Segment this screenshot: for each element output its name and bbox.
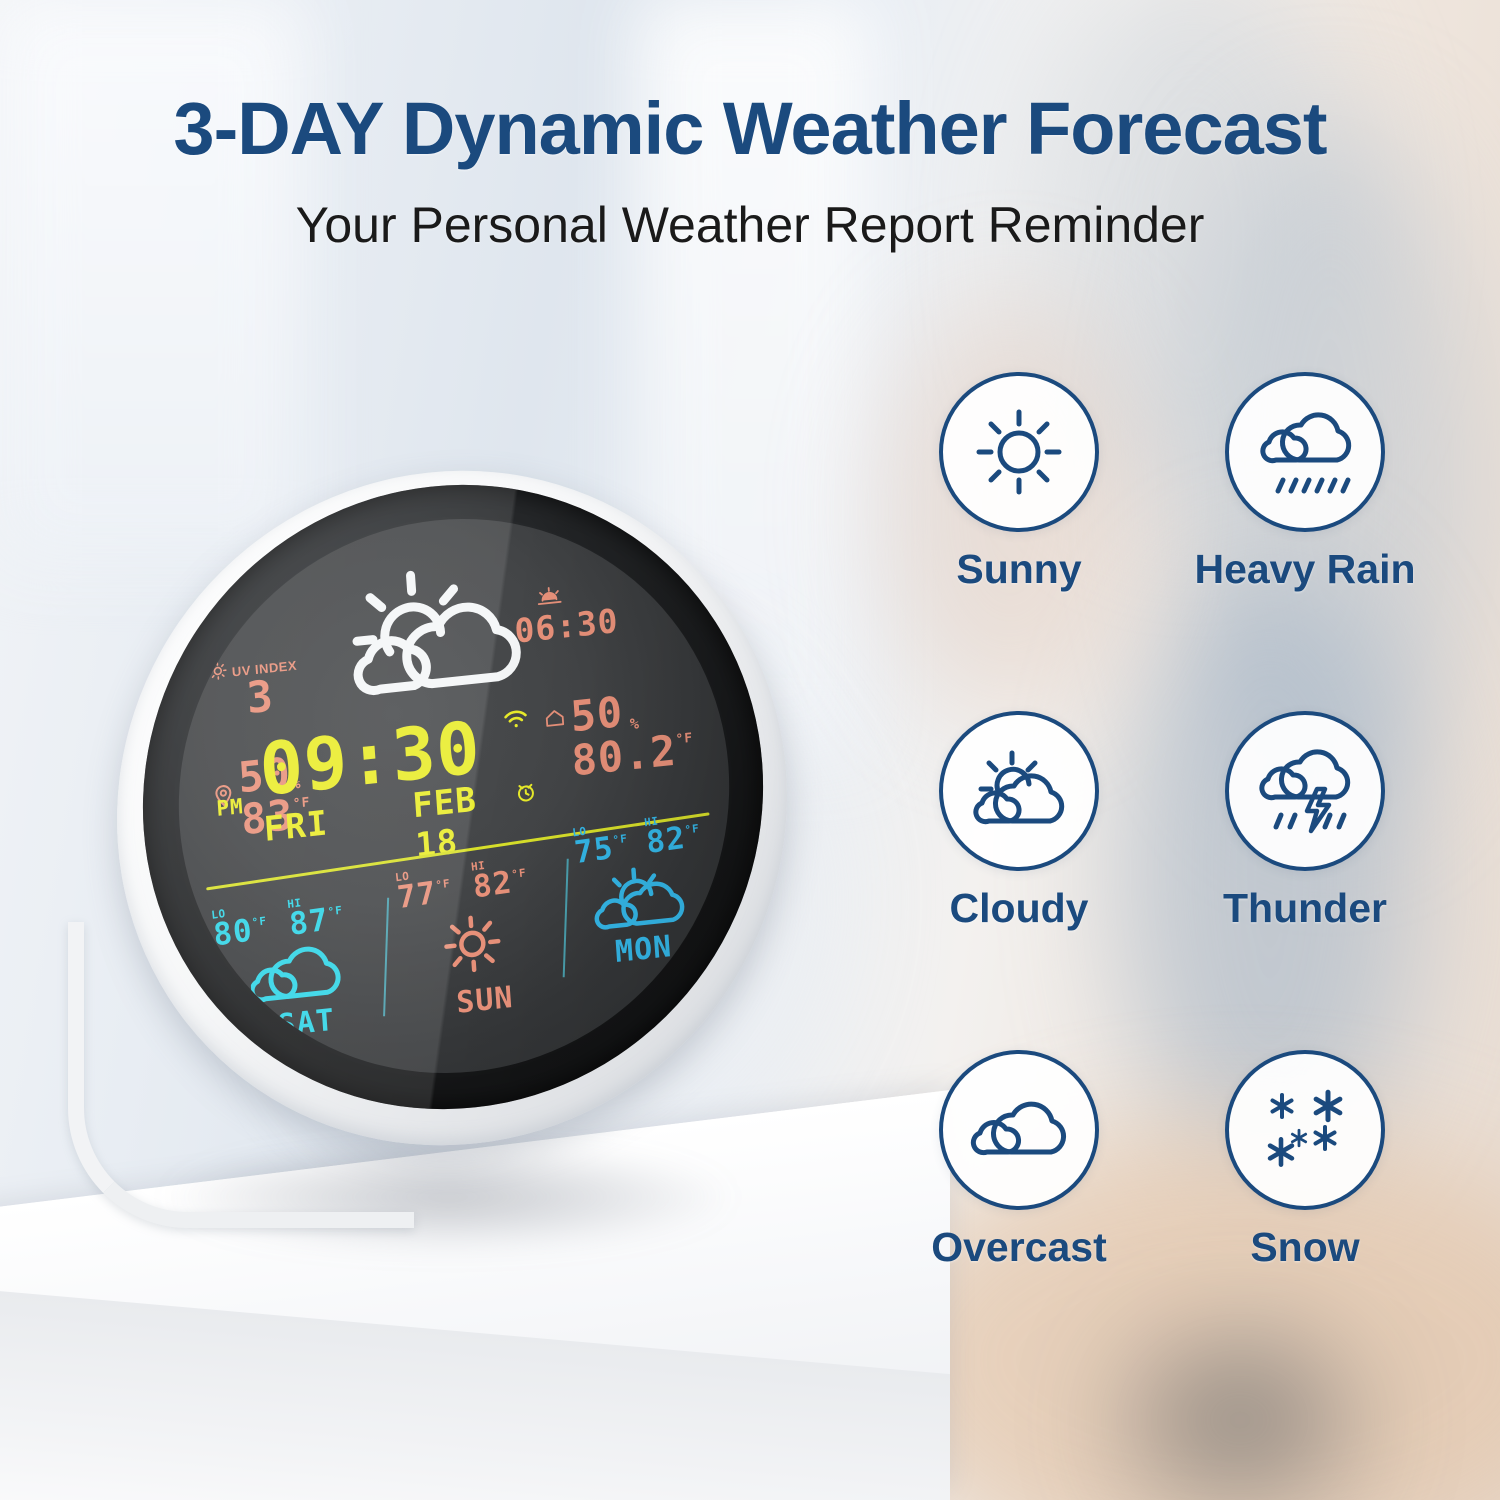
overcast-badge <box>939 1050 1099 1210</box>
background-shoe-blur <box>1130 1340 1350 1500</box>
mon-hi-unit: °F <box>684 822 700 837</box>
weather-icon-legend: Sunny <box>915 372 1490 1331</box>
overcast-icon <box>966 1080 1072 1180</box>
heavy-rain-badge <box>1225 372 1385 532</box>
alarm-time-block: 06:30 <box>512 580 620 648</box>
sat-hi-unit: °F <box>327 904 343 919</box>
device-lcd-screen: UV INDEX 3 <box>160 492 748 1101</box>
thunder-badge <box>1225 711 1385 871</box>
weather-station-device: UV INDEX 3 <box>88 452 828 1252</box>
sun-sunny-icon <box>441 906 565 981</box>
product-marketing-image: 3-DAY Dynamic Weather Forecast Your Pers… <box>0 0 1500 1500</box>
indoor-temperature-value: 80.2 <box>570 731 677 782</box>
snow-icon <box>1252 1080 1358 1180</box>
sun-lo-unit: °F <box>435 877 451 892</box>
legend-item-cloudy: Cloudy <box>915 711 1123 932</box>
clock-block: PM 09:30 FRI FEB 18 <box>258 715 483 803</box>
legend-label-heavy-rain: Heavy Rain <box>1194 546 1415 593</box>
legend-label-thunder: Thunder <box>1223 885 1387 932</box>
home-icon <box>544 708 565 733</box>
legend-item-sunny: Sunny <box>915 372 1123 593</box>
sun-hi-value: 82 <box>472 868 514 903</box>
mon-hi-value: 82 <box>645 824 687 859</box>
indoor-humidity-value: 50 <box>569 692 624 737</box>
thunder-icon <box>1251 741 1359 841</box>
page-subheadline: Your Personal Weather Report Reminder <box>0 196 1500 254</box>
snow-badge <box>1225 1050 1385 1210</box>
forecast-divider-2 <box>563 859 569 977</box>
cloudy-badge <box>939 711 1099 871</box>
sun-small-icon <box>208 661 228 686</box>
mon-lo-value: 75 <box>573 834 615 869</box>
clock-meridiem: PM <box>216 794 245 821</box>
sunny-badge <box>939 372 1099 532</box>
clock-day-of-week: FRI <box>263 803 330 850</box>
legend-item-thunder: Thunder <box>1201 711 1409 932</box>
indoor-temperature-unit: °F <box>675 731 694 748</box>
sunny-icon <box>969 402 1069 502</box>
uv-index-block: UV INDEX 3 <box>208 654 300 724</box>
legend-item-overcast: Overcast <box>915 1050 1123 1271</box>
legend-item-snow: Snow <box>1201 1050 1409 1271</box>
legend-row-3: Overcast <box>915 1050 1490 1271</box>
legend-label-cloudy: Cloudy <box>950 885 1089 932</box>
alarm-time-value: 06:30 <box>513 604 619 648</box>
legend-label-sunny: Sunny <box>956 546 1081 593</box>
wifi-icon <box>502 708 530 736</box>
legend-row-1: Sunny <box>915 372 1490 593</box>
legend-row-2: Cloudy <box>915 711 1490 932</box>
page-headline: 3-DAY Dynamic Weather Forecast <box>0 86 1500 171</box>
forecast-day-sat: LO 80 °F HI 87 °F <box>211 889 382 1050</box>
uv-index-value: 3 <box>246 675 301 720</box>
sun-lo-value: 77 <box>396 879 438 914</box>
indoor-readings-block: 50 % 80.2 °F <box>543 685 695 784</box>
legend-item-heavy-rain: Heavy Rain <box>1201 372 1409 593</box>
forecast-divider-1 <box>383 898 389 1016</box>
forecast-day-mon: LO 75 °F HI 82 °F <box>572 808 732 974</box>
legend-label-snow: Snow <box>1250 1224 1359 1271</box>
mon-lo-unit: °F <box>612 832 628 847</box>
sat-lo-value: 80 <box>212 916 254 951</box>
legend-label-overcast: Overcast <box>931 1224 1107 1271</box>
sun-day-label: SUN <box>455 975 567 1021</box>
sun-hi-unit: °F <box>511 866 527 881</box>
cloudy-icon <box>965 741 1073 841</box>
heavy-rain-icon <box>1252 402 1358 502</box>
forecast-day-sun: LO 77 °F HI 82 °F <box>395 852 567 1027</box>
alarm-clock-icon <box>513 779 539 810</box>
sat-hi-value: 87 <box>288 906 330 941</box>
sat-lo-unit: °F <box>251 914 267 929</box>
